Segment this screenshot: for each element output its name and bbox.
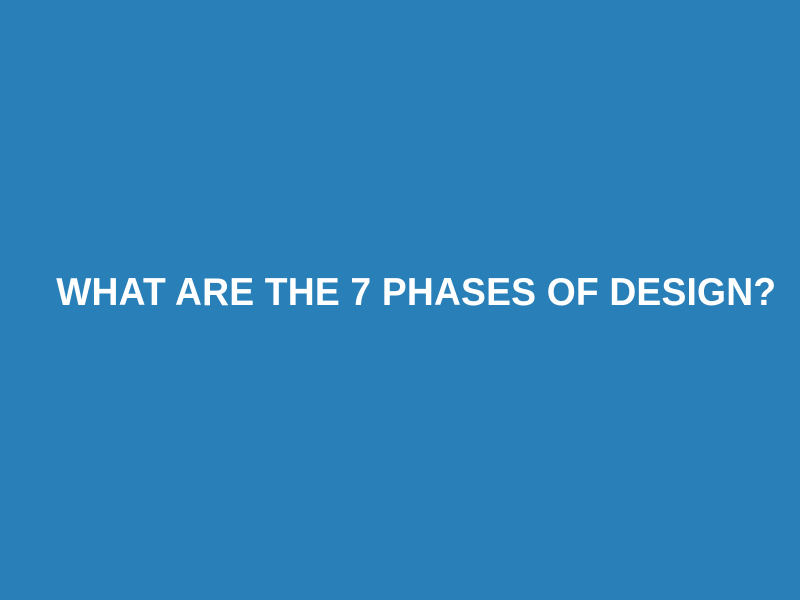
page-title: What are the 7 Phases of Design? — [56, 271, 744, 315]
headline-container: What are the 7 Phases of Design? — [0, 271, 800, 315]
hero-card: What are the 7 Phases of Design? — [0, 0, 800, 600]
